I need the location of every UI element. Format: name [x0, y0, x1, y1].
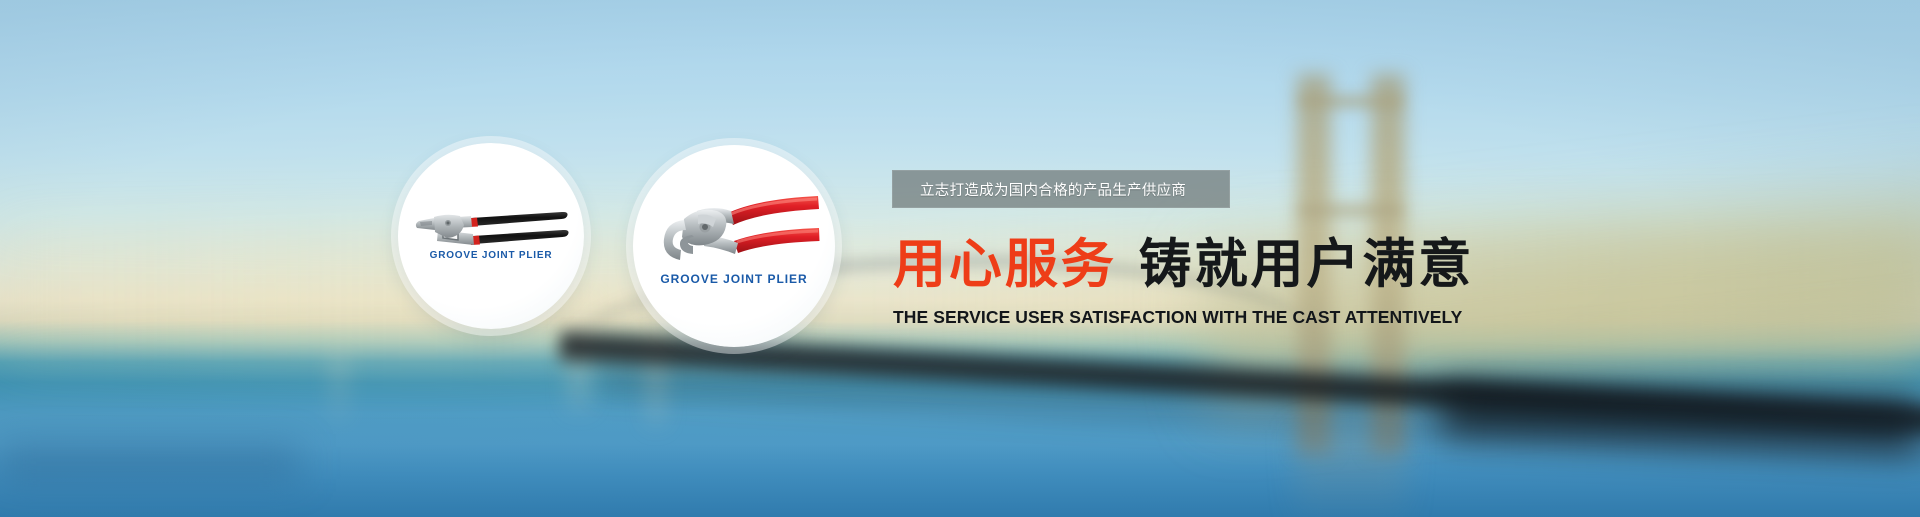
product-label-2: GROOVE JOINT PLIER: [633, 272, 835, 286]
tagline-text: 立志打造成为国内合格的产品生产供应商: [892, 179, 1186, 200]
product-label-1: GROOVE JOINT PLIER: [398, 250, 584, 261]
tagline-bar: 立志打造成为国内合格的产品生产供应商: [892, 170, 1230, 208]
product-image-1: [398, 143, 584, 329]
groove-joint-plier-red-icon: [653, 189, 821, 271]
headline-secondary: 铸就用户满意: [1139, 233, 1475, 295]
product-circle-1[interactable]: GROOVE JOINT PLIER: [398, 143, 584, 329]
subheadline: THE SERVICE USER SATISFACTION WITH THE C…: [893, 307, 1462, 328]
product-image-2: [633, 145, 835, 347]
headline-primary: 用心服务: [893, 233, 1117, 295]
headline: 用心服务铸就用户满意: [893, 238, 1474, 291]
hero-banner: GROOVE JOINT PLIER: [0, 0, 1920, 517]
product-circle-2[interactable]: GROOVE JOINT PLIER: [633, 145, 835, 347]
